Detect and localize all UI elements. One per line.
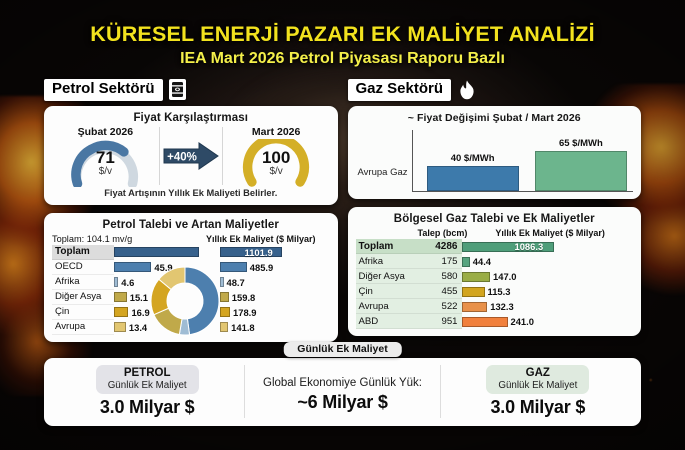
oil-label-column: ToplamOECDAfrikaDiğer AsyaÇinAvrupa <box>52 245 114 335</box>
bottom-gas-value: 3.0 Milyar $ <box>445 397 631 418</box>
bottom-oil-value: 3.0 Milyar $ <box>54 397 240 418</box>
gas-cost-bar-row: 1086.3 <box>462 239 634 254</box>
feb-month-label: Şubat 2026 <box>52 126 159 138</box>
gas-demand-value: 580 <box>418 269 462 284</box>
oil-demand-value: 15.1 <box>130 292 148 303</box>
feb-price-unit: $/v <box>99 166 112 179</box>
gas-section-label: Gaz Sektörü <box>348 79 452 101</box>
feb-price-value: 71 <box>96 149 115 166</box>
oil-cost-bar <box>220 307 231 317</box>
gas-section-header: Gaz Sektörü <box>348 79 642 101</box>
gas-cost-value: 132.3 <box>490 301 513 312</box>
gas-row-label: Toplam <box>356 239 418 254</box>
oil-row-label: Diğer Asya <box>52 290 114 305</box>
oil-cost-value: 485.9 <box>250 262 273 273</box>
oil-demand-bars: 45.94.615.116.913.4 <box>114 245 220 335</box>
oil-cost-value: 1101.9 <box>245 247 273 258</box>
oil-row-label: Çin <box>52 305 114 320</box>
oil-cost-value: 141.8 <box>231 322 254 333</box>
gas-column: Gaz Sektörü ~ Fiyat Değişimi Şubat / Mar… <box>348 79 642 342</box>
gas-chart-plot: 40 $/MWh65 $/MWh <box>412 130 634 192</box>
gas-demand-value: 455 <box>418 284 462 299</box>
oil-demand-bar <box>114 292 127 302</box>
gas-price-card: ~ Fiyat Değişimi Şubat / Mart 2026 Avrup… <box>348 106 642 199</box>
bottom-oil-cell: PETROL Günlük Ek Maliyet 3.0 Milyar $ <box>50 365 244 418</box>
gas-row-label: Diğer Asya <box>356 269 418 284</box>
oil-demand-value: 13.4 <box>129 322 147 333</box>
oil-demand-bar <box>114 277 118 287</box>
oil-demand-bar-row: 16.9 <box>114 305 220 320</box>
oil-demand-card: Petrol Talebi ve Artan Maliyetler Toplam… <box>44 213 338 342</box>
gas-demand-value: 175 <box>418 254 462 269</box>
gas-cost-value: 44.4 <box>473 256 491 267</box>
oil-demand-bar <box>114 262 151 272</box>
gas-cost-bar-row: 241.0 <box>462 314 634 329</box>
mar-price-value: 100 <box>262 149 290 166</box>
bottom-gas-cell: GAZ Günlük Ek Maliyet 3.0 Milyar $ <box>441 365 635 418</box>
gas-cost-bar <box>462 272 491 282</box>
oil-total-header: Toplam: 104.1 mv/g <box>52 234 192 244</box>
daily-cost-tab: Günlük Ek Maliyet <box>283 342 401 357</box>
bottom-gas-pill: GAZ Günlük Ek Maliyet <box>486 365 589 394</box>
gas-bar <box>427 166 519 191</box>
bottom-gas-subtitle: Günlük Ek Maliyet <box>498 380 577 391</box>
oil-row-label: Avrupa <box>52 320 114 335</box>
oil-barrel-icon <box>169 79 186 100</box>
main-columns: Petrol Sektörü Fiyat Karşılaştırması <box>0 68 685 342</box>
oil-demand-bar <box>114 307 128 317</box>
oil-table: ToplamOECDAfrikaDiğer AsyaÇinAvrupa 45.9… <box>52 245 330 335</box>
gas-cost-value: 241.0 <box>511 316 534 327</box>
page-subtitle: IEA Mart 2026 Petrol Piyasası Raporu Baz… <box>0 50 685 68</box>
gas-cost-header: Yıllık Ek Maliyet ($ Milyar) <box>467 228 633 238</box>
gas-demand-column: 4286175580455522951 <box>418 239 462 329</box>
bottom-oil-pill: PETROL Günlük Ek Maliyet <box>96 365 199 394</box>
gas-row-label: Afrika <box>356 254 418 269</box>
oil-demand-value: 45.9 <box>154 262 172 273</box>
oil-price-note: Fiyat Artışının Yıllık Ek Maliyeti Belir… <box>52 188 330 198</box>
oil-table-headers: Toplam: 104.1 mv/g Yıllık Ek Maliyet ($ … <box>52 234 330 244</box>
gas-row-label: Avrupa <box>356 299 418 314</box>
gas-cost-bar-row: 147.0 <box>462 269 634 284</box>
oil-demand-value: 16.9 <box>131 307 149 318</box>
gas-table-headers: Talep (bcm) Yıllık Ek Maliyet ($ Milyar) <box>356 228 634 238</box>
infographic-page: KÜRESEL ENERJİ PAZARI EK MALİYET ANALİZİ… <box>0 0 685 450</box>
oil-cost-value: 159.8 <box>232 292 255 303</box>
oil-row-label: Toplam <box>52 245 114 260</box>
gas-label-column: ToplamAfrikaDiğer AsyaÇinAvrupaABD <box>356 239 418 329</box>
oil-demand-bar-row: 15.1 <box>114 290 220 305</box>
gas-cost-value: 1086.3 <box>515 241 544 252</box>
oil-cost-bar <box>220 262 247 272</box>
header: KÜRESEL ENERJİ PAZARI EK MALİYET ANALİZİ… <box>0 0 685 68</box>
gas-demand-card: Bölgesel Gaz Talebi ve Ek Maliyetler Tal… <box>348 207 642 336</box>
oil-cost-bar-row: 48.7 <box>220 275 330 290</box>
oil-demand-bar-row: 13.4 <box>114 320 220 335</box>
oil-cost-bar <box>220 322 229 332</box>
bottom-middle-cell: Global Ekonomiye Günlük Yük: ~6 Milyar $ <box>244 365 440 418</box>
gas-cost-bar <box>462 317 508 327</box>
gas-cost-bar <box>462 302 488 312</box>
bottom-gas-title: GAZ <box>498 367 577 380</box>
mar-price-unit: $/v <box>269 166 282 179</box>
oil-cost-bar-row: 141.8 <box>220 320 330 335</box>
oil-cost-bar-row: 485.9 <box>220 260 330 275</box>
oil-cost-bars: 1101.9485.948.7159.8178.9141.8 <box>220 245 330 335</box>
bottom-oil-subtitle: Günlük Ek Maliyet <box>108 380 187 391</box>
gas-price-chart: Avrupa Gaz 40 $/MWh65 $/MWh <box>356 130 634 192</box>
bottom-middle-value: ~6 Milyar $ <box>249 392 435 413</box>
gas-bar <box>535 151 627 191</box>
oil-price-card-title: Fiyat Karşılaştırması <box>52 112 330 124</box>
oil-demand-bar <box>114 247 199 257</box>
oil-cost-bar-row: 1101.9 <box>220 245 330 260</box>
bottom-summary: Günlük Ek Maliyet PETROL Günlük Ek Maliy… <box>0 342 685 426</box>
gas-cost-value: 147.0 <box>493 271 516 282</box>
oil-demand-bar <box>114 322 126 332</box>
gas-cost-bar-row: 132.3 <box>462 299 634 314</box>
bottom-summary-card: PETROL Günlük Ek Maliyet 3.0 Milyar $ Gl… <box>44 358 641 426</box>
mar-gauge: 100 $/v <box>233 139 319 187</box>
bottom-oil-title: PETROL <box>108 367 187 380</box>
mar-month-label: Mart 2026 <box>223 126 330 138</box>
gas-cost-bar <box>462 257 470 267</box>
oil-row-label: Afrika <box>52 275 114 290</box>
gas-bar-group: 65 $/MWh <box>535 130 627 191</box>
gas-table: ToplamAfrikaDiğer AsyaÇinAvrupaABD 42861… <box>356 239 634 329</box>
oil-cost-bar-row: 159.8 <box>220 290 330 305</box>
oil-price-card: Fiyat Karşılaştırması Şubat 2026 71 <box>44 106 338 205</box>
oil-price-comparison: Şubat 2026 71 $/v <box>52 126 330 187</box>
gas-bar-group: 40 $/MWh <box>427 130 519 191</box>
oil-demand-bar-row <box>114 245 220 260</box>
oil-cost-bar <box>220 277 224 287</box>
oil-cost-header: Yıllık Ek Maliyet ($ Milyar) <box>192 234 330 244</box>
oil-cost-value: 48.7 <box>227 277 245 288</box>
oil-section-label: Petrol Sektörü <box>44 79 163 101</box>
price-change-arrow: +40% <box>160 141 222 171</box>
oil-demand-bar-row: 4.6 <box>114 275 220 290</box>
gas-cost-value: 115.3 <box>488 286 511 297</box>
oil-column: Petrol Sektörü Fiyat Karşılaştırması <box>44 79 338 342</box>
gas-bar-label: 40 $/MWh <box>427 153 519 164</box>
gas-price-card-title: ~ Fiyat Değişimi Şubat / Mart 2026 <box>356 112 634 124</box>
oil-price-feb: Şubat 2026 71 $/v <box>52 126 159 187</box>
gas-cost-bar-row: 44.4 <box>462 254 634 269</box>
gas-axis-label: Avrupa Gaz <box>358 167 412 192</box>
oil-price-mar: Mart 2026 100 $/v <box>223 126 330 187</box>
oil-cost-bar-row: 178.9 <box>220 305 330 320</box>
gas-bar-label: 65 $/MWh <box>535 138 627 149</box>
gas-demand-value: 522 <box>418 299 462 314</box>
oil-cost-bar <box>220 292 229 302</box>
gas-cost-bars: 1086.344.4147.0115.3132.3241.0 <box>462 239 634 329</box>
gas-cost-bar <box>462 287 485 297</box>
gas-demand-header: Talep (bcm) <box>418 228 468 238</box>
arrow-percent-label: +40% <box>167 152 197 164</box>
gas-demand-card-title: Bölgesel Gaz Talebi ve Ek Maliyetler <box>356 213 634 225</box>
gas-row-label: Çin <box>356 284 418 299</box>
oil-row-label: OECD <box>52 260 114 275</box>
flame-icon <box>457 79 477 101</box>
oil-demand-value: 4.6 <box>121 277 134 288</box>
gas-demand-value: 951 <box>418 314 462 329</box>
feb-gauge: 71 $/v <box>62 139 148 187</box>
page-title: KÜRESEL ENERJİ PAZARI EK MALİYET ANALİZİ <box>0 22 685 47</box>
oil-section-header: Petrol Sektörü <box>44 79 338 101</box>
gas-row-label: ABD <box>356 314 418 329</box>
oil-demand-bar-row: 45.9 <box>114 260 220 275</box>
bottom-middle-lead: Global Ekonomiye Günlük Yük: <box>249 377 435 389</box>
oil-cost-value: 178.9 <box>233 307 256 318</box>
oil-demand-card-title: Petrol Talebi ve Artan Maliyetler <box>52 219 330 231</box>
gas-cost-bar-row: 115.3 <box>462 284 634 299</box>
gas-demand-value: 4286 <box>418 239 462 254</box>
